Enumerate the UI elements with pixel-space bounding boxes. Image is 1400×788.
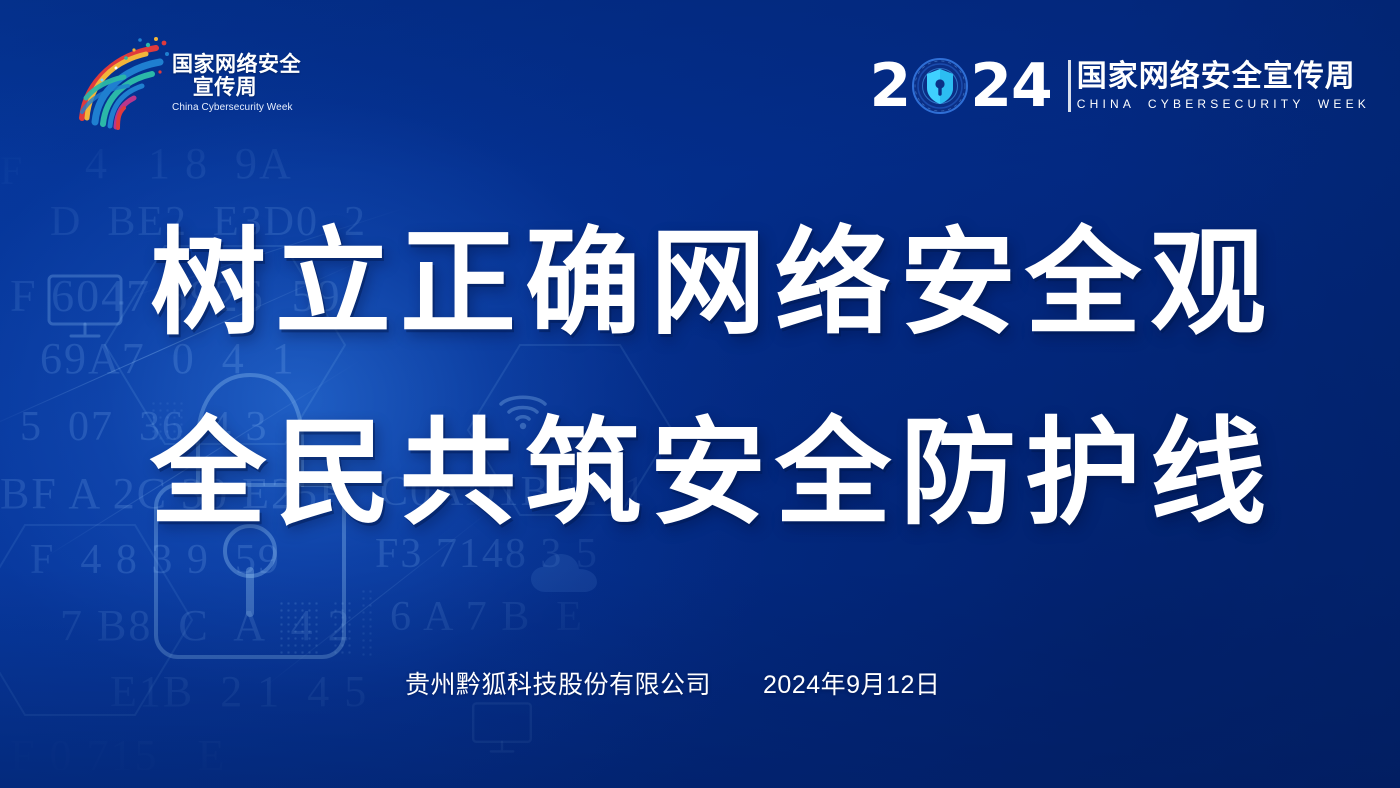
footer-block: 贵州黔狐科技股份有限公司 2024年9月12日 — [405, 668, 940, 702]
cybersecurity-week-2024-logo-right: 2 24 国家网络安全宣传周 CHINA CYBERSECURITY WEEK — [869, 48, 1370, 124]
footer-date: 2024年9月12日 — [763, 668, 940, 702]
cybersecurity-week-poster: F 4 1 8 9A D BE2 E3D0 2 F 6047 5926 59 6… — [0, 0, 1400, 788]
shield-lock-icon — [911, 57, 969, 115]
china-cybersecurity-week-logo-left: 国家网络安全 宣传周 China Cybersecurity Week — [68, 34, 268, 138]
china-cybersecurity-week-swirl-emblem — [68, 34, 176, 138]
headline-line-1: 树立正确网络安全观 — [150, 218, 1240, 350]
year-digits-24: 24 — [970, 57, 1052, 115]
year-digit-2: 2 — [869, 57, 910, 115]
logo-left-text: 国家网络安全 宣传周 China Cybersecurity Week — [172, 54, 276, 113]
footer-organization: 贵州黔狐科技股份有限公司 — [405, 668, 711, 702]
logo-right-title-block: 国家网络安全宣传周 CHINA CYBERSECURITY WEEK — [1068, 60, 1370, 112]
year-2024-lockup: 2 24 — [869, 55, 1051, 117]
logo-left-cn-line2: 宣传周 — [172, 77, 276, 100]
logo-left-en-line: China Cybersecurity Week — [172, 102, 276, 113]
logo-right-en-title: CHINA CYBERSECURITY WEEK — [1077, 96, 1370, 112]
headline-block: 树立正确网络安全观 全民共筑安全防护线 — [150, 218, 1240, 540]
logo-right-cn-title: 国家网络安全宣传周 — [1077, 60, 1370, 94]
logo-left-cn-line1: 国家网络安全 — [172, 54, 276, 77]
headline-line-2: 全民共筑安全防护线 — [150, 408, 1240, 540]
